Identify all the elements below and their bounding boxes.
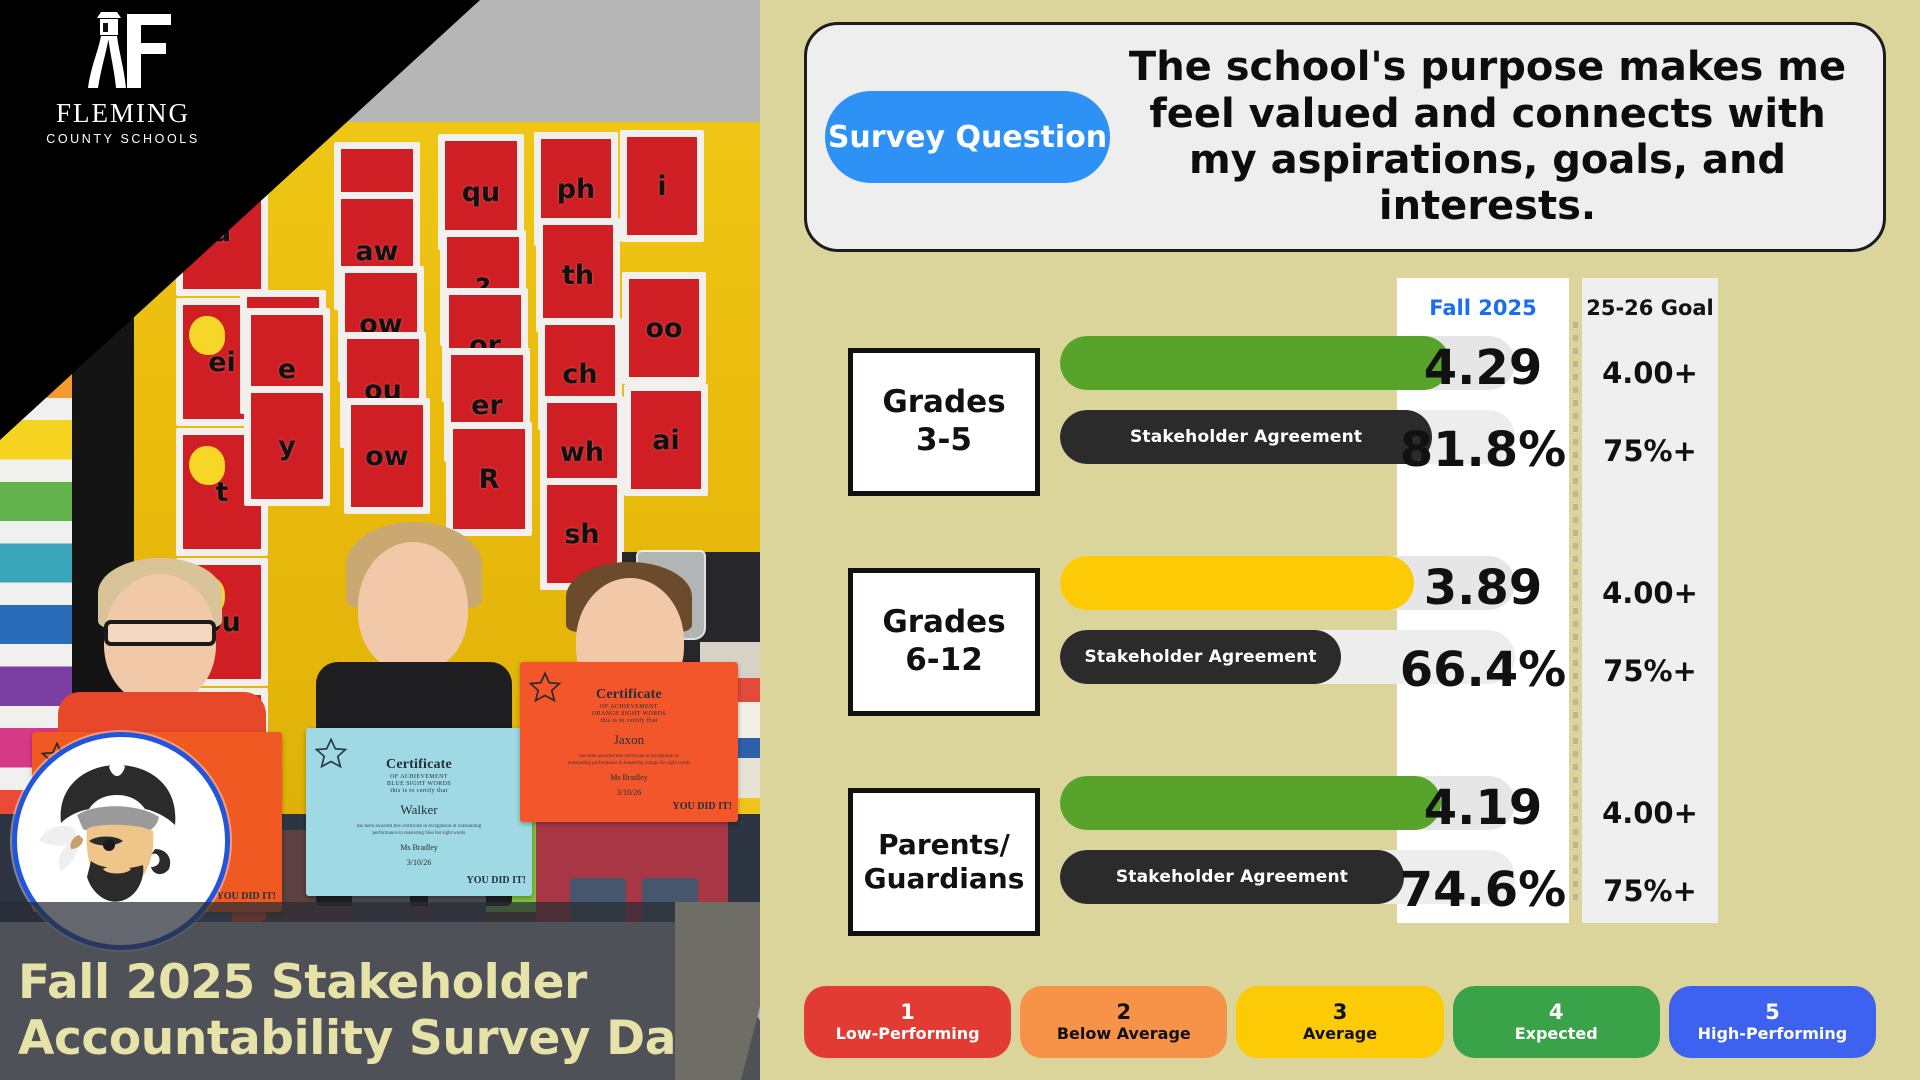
agreement-bar-label: Stakeholder Agreement [1130,427,1362,447]
legend-item-4: 4 Expected [1453,986,1660,1058]
agreement-value: 81.8% [1397,422,1569,478]
certificate-preamble: this is to certify that [600,718,657,724]
category-label-box: Grades 3-5 [848,348,1040,496]
score-goal-value: 4.00+ [1582,576,1718,610]
agreement-bar-fill: Stakeholder Agreement [1060,410,1432,464]
legend-item-5: 5 High-Performing [1669,986,1876,1058]
category-line1: Grades [882,604,1005,642]
student-photo-3: Certificate OF ACHIEVEMENT ORANGE SIGHT … [520,362,760,922]
star-icon [314,736,348,770]
certificate-exclaim: YOU DID IT! [673,801,732,813]
category-line2: Guardians [864,862,1025,896]
certificate-student-name: Jaxon [614,732,644,748]
agreement-bar-fill: Stakeholder Agreement [1060,850,1404,904]
legend-item-1: 1 Low-Performing [804,986,1011,1058]
certificate-exclaim: YOU DID IT! [217,891,276,903]
certificate-title: Certificate [386,757,452,773]
performance-scale-legend: 1 Low-Performing 2 Below Average 3 Avera… [760,986,1920,1058]
certificate-date: 3/10/26 [407,858,431,867]
certificate-subtitle: OF ACHIEVEMENT [390,774,448,780]
student-photo-2: Certificate OF ACHIEVEMENT BLUE SIGHT WO… [300,362,540,922]
survey-question-card: Survey Question The school's purpose mak… [804,22,1886,252]
page-title: Fall 2025 Stakeholder Accountability Sur… [18,955,758,1066]
agreement-value: 66.4% [1397,642,1569,698]
agreement-goal-value: 75%+ [1582,654,1718,688]
photo-panel: a ei t ou u a e i o u e y qu aw ow ou ow… [0,0,760,1080]
certificate-category: BLUE SIGHT WORDS [387,781,451,787]
certificate-title: Certificate [596,687,662,703]
category-line1: Parents/ [878,828,1010,862]
survey-question-text: The school's purpose makes me feel value… [1110,44,1865,230]
legend-label: High-Performing [1698,1024,1848,1043]
survey-question-pill: Survey Question [825,91,1110,183]
data-rows: Grades 3-5 Stakeholder Agreement 4.29 81… [760,326,1920,986]
agreement-bar-label: Stakeholder Agreement [1084,647,1316,667]
certificate-preamble: this is to certify that [390,788,447,794]
certificate-signature: Ms Bradley [400,843,438,852]
category-line2: 3-5 [916,422,972,460]
district-logo: FLEMING COUNTY SCHOOLS [18,6,228,166]
agreement-bar-label: Stakeholder Agreement [1116,867,1348,887]
score-goal-value: 4.00+ [1582,356,1718,390]
table-row: Grades 6-12 Stakeholder Agreement 3.89 6… [760,546,1920,744]
score-value: 4.19 [1397,780,1569,836]
legend-label: Below Average [1057,1024,1191,1043]
page-title-line2: Accountability Survey Data [18,1011,758,1066]
legend-number: 2 [1116,1001,1131,1023]
star-icon [528,670,562,704]
legend-number: 1 [900,1001,915,1023]
legend-number: 5 [1765,1001,1780,1023]
certificate-student-name: Walker [400,802,437,818]
eyeglasses [104,620,216,646]
logo-wordmark: FLEMING [18,100,228,127]
table-row: Grades 3-5 Stakeholder Agreement 4.29 81… [760,326,1920,524]
legend-label: Average [1303,1024,1377,1043]
fleming-f-mark-icon [18,6,228,98]
certificate-body: has been awarded this certificate in rec… [567,754,691,768]
data-panel: Survey Question The school's purpose mak… [760,0,1920,1080]
infographic-canvas: a ei t ou u a e i o u e y qu aw ow ou ow… [0,0,1920,1080]
category-line1: Grades [882,384,1005,422]
goal-column-header: 25-26 Goal [1582,296,1718,320]
legend-number: 4 [1549,1001,1564,1023]
legend-number: 3 [1333,1001,1348,1023]
certificate-signature: Ms Bradley [610,773,648,782]
agreement-goal-value: 75%+ [1582,434,1718,468]
certificate-exclaim: YOU DID IT! [467,875,526,887]
page-title-line1: Fall 2025 Stakeholder [18,955,758,1010]
certificate-body: has been awarded this certificate in rec… [354,824,484,838]
certificate-date: 3/10/26 [617,788,641,797]
score-value: 3.89 [1397,560,1569,616]
agreement-bar-fill: Stakeholder Agreement [1060,630,1341,684]
fall-column-header: Fall 2025 [1397,296,1569,320]
poster-card: i [620,130,704,242]
legend-label: Low-Performing [836,1024,980,1043]
poster-card: th [536,218,620,332]
legend-item-2: 2 Below Average [1020,986,1227,1058]
agreement-value: 74.6% [1397,862,1569,918]
category-label-box: Parents/ Guardians [848,788,1040,936]
logo-tagline: COUNTY SCHOOLS [18,132,228,146]
category-line2: 6-12 [905,642,983,680]
score-bar-fill [1060,776,1441,830]
category-label-box: Grades 6-12 [848,568,1040,716]
legend-item-3: 3 Average [1236,986,1443,1058]
score-bar-fill [1060,556,1414,610]
certificate-subtitle: OF ACHIEVEMENT [600,704,658,710]
score-bar-fill [1060,336,1450,390]
legend-label: Expected [1515,1024,1598,1043]
score-goal-value: 4.00+ [1582,796,1718,830]
lighthouse-f-icon [71,6,175,98]
table-row: Parents/ Guardians Stakeholder Agreement… [760,766,1920,964]
score-value: 4.29 [1397,340,1569,396]
certificate-category: ORANGE SIGHT WORDS [592,711,666,717]
agreement-goal-value: 75%+ [1582,874,1718,908]
